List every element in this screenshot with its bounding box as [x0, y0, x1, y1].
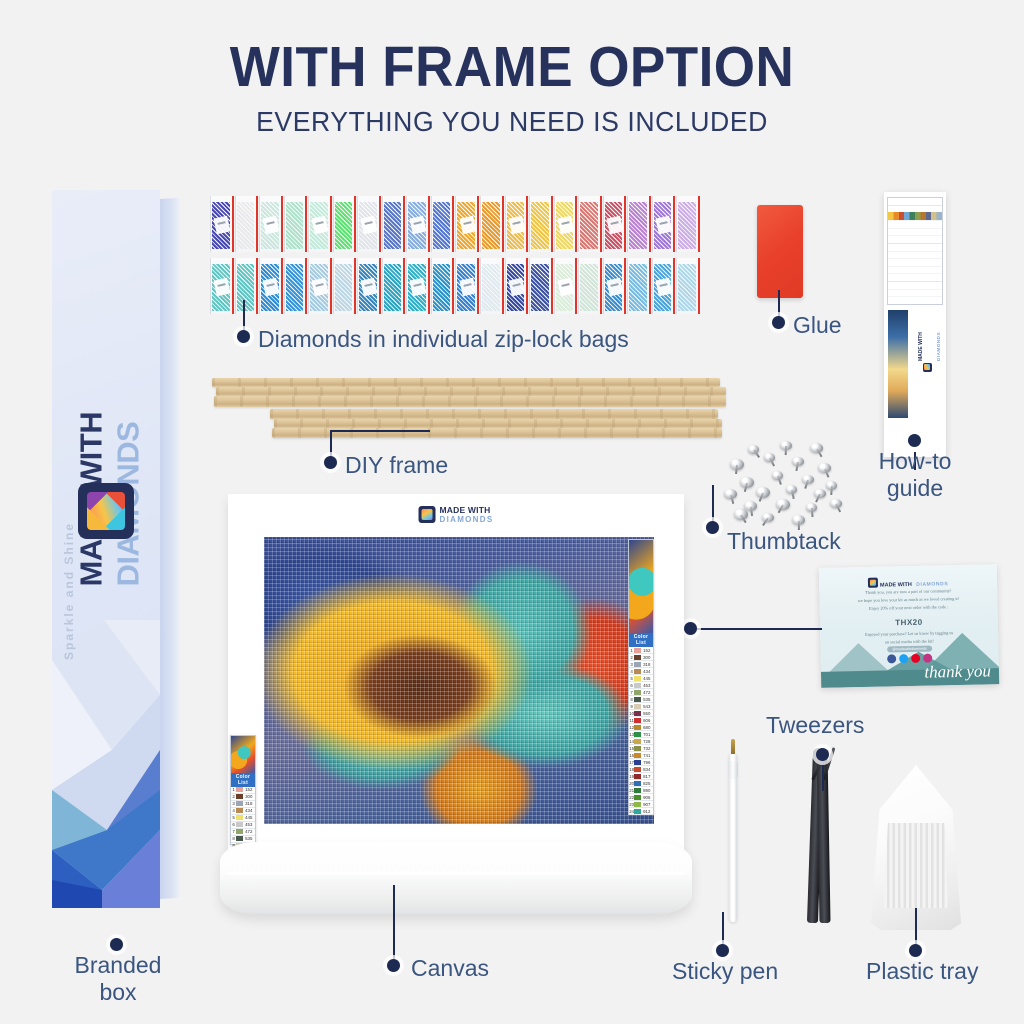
color-row-code: 680: [641, 725, 653, 730]
thumbtack: [814, 489, 826, 498]
ziplock-bag: [652, 196, 676, 252]
color-row-code: 606: [641, 718, 653, 723]
thumbtack: [786, 485, 797, 494]
ziplock-bag-row-top: [210, 196, 700, 252]
guide-logo-line2: DIAMONDS: [936, 332, 941, 361]
ziplock-bag: [382, 196, 406, 252]
ziplock-bag: [578, 258, 602, 314]
color-row-code: 741: [641, 753, 653, 758]
callout-dot-branded-box: [110, 938, 123, 951]
bag-diamond-fill: [335, 202, 353, 249]
twitter-icon: [899, 654, 908, 663]
color-list-row: 5445: [231, 815, 255, 822]
ziplock-bag: [333, 196, 357, 252]
color-list-row: 15732: [629, 745, 653, 752]
color-list-row: 7472: [629, 689, 653, 696]
color-row-code: 453: [243, 822, 255, 827]
ziplock-bag: [627, 258, 651, 314]
canvas-rolled-edge: [220, 842, 692, 914]
how-to-guide: MADE WITH DIAMONDS: [884, 192, 946, 457]
color-row-code: 701: [641, 732, 653, 737]
box-front-face: MADE WITH DIAMONDS Sparkle and Shine: [52, 190, 160, 908]
page-title: WITH FRAME OPTION: [36, 34, 988, 100]
color-row-code: 453: [641, 683, 653, 688]
bag-diamond-fill: [678, 264, 696, 311]
callout-dot-thumbtack: [706, 521, 719, 534]
leader-line-thankyou: [690, 628, 822, 630]
color-list-row: 22906: [629, 794, 653, 801]
ziplock-bag: [431, 258, 455, 314]
color-list-row: 3318: [231, 801, 255, 808]
bag-diamond-fill: [580, 264, 598, 311]
thumbtack: [756, 487, 770, 498]
thumbtack: [780, 441, 792, 450]
color-row-code: 825: [641, 781, 653, 786]
color-row-code: 152: [243, 787, 255, 792]
ziplock-bag: [455, 196, 479, 252]
color-list-row: 4434: [629, 668, 653, 675]
callout-dot-tweezers: [816, 748, 829, 761]
color-row-code: 445: [641, 676, 653, 681]
callout-dot-tray: [909, 944, 922, 957]
bag-diamond-fill: [335, 264, 353, 311]
callout-dot-thankyou: [684, 622, 697, 635]
color-row-code: 550: [641, 711, 653, 716]
bag-label: [557, 278, 574, 297]
thumbtack: [740, 477, 754, 488]
color-list-row: 8535: [629, 696, 653, 703]
color-list-row: 2300: [629, 654, 653, 661]
color-list-row: 24912: [629, 808, 653, 815]
guide-color-swatches: [888, 212, 942, 220]
bag-label: [557, 216, 574, 235]
ziplock-bag: [284, 258, 308, 314]
bag-diamond-fill: [433, 264, 451, 311]
color-list-row: 16741: [629, 752, 653, 759]
leader-line-thumbtack: [712, 485, 714, 521]
canvas-logo-line1: MADE WITH: [440, 506, 494, 515]
ziplock-bag: [676, 196, 700, 252]
callout-dot-howto: [908, 434, 921, 447]
bag-diamond-fill: [629, 202, 647, 249]
callout-label-glue: Glue: [793, 312, 842, 339]
ziplock-bag: [431, 196, 455, 252]
callout-label-canvas: Canvas: [411, 955, 489, 982]
color-row-code: 445: [243, 815, 255, 820]
color-row-code: 434: [641, 669, 653, 674]
bag-label: [606, 278, 623, 297]
box-side-face: [160, 198, 180, 899]
thumbtack: [792, 457, 804, 466]
guide-color-table: [887, 197, 943, 305]
leader-line-canvas: [393, 885, 395, 959]
canvas-drill-grid: [264, 537, 654, 824]
color-list-thumbnail-left: [231, 736, 255, 773]
ziplock-bag: [357, 196, 381, 252]
canvas-logo-icon: MADE WITH DIAMONDS: [419, 506, 494, 524]
color-row-code: 907: [641, 802, 653, 807]
color-list-row: 10550: [629, 710, 653, 717]
color-row-code: 300: [641, 655, 653, 660]
ziplock-bag: [554, 258, 578, 314]
color-list-rows-right: 1152230033184434544564537472853595431055…: [629, 647, 653, 815]
bag-diamond-fill: [433, 202, 451, 249]
leader-line-frame-h: [330, 430, 430, 432]
sticky-pen: [727, 737, 739, 922]
card-social-handle: @madewithdiamonds: [887, 646, 932, 653]
callout-label-bags: Diamonds in individual zip-lock bags: [258, 326, 629, 353]
bag-label: [655, 216, 672, 235]
thumbtack: [776, 499, 790, 510]
callout-label-frame: DIY frame: [345, 452, 448, 479]
callout-label-pen: Sticky pen: [672, 958, 778, 985]
color-row-code: 152: [641, 648, 653, 653]
ziplock-bag: [455, 258, 479, 314]
ziplock-bag: [333, 258, 357, 314]
callout-dot-pen: [716, 944, 729, 957]
canvas-logo-line2: DIAMONDS: [440, 516, 494, 524]
ziplock-bag: [357, 258, 381, 314]
ziplock-bag: [603, 258, 627, 314]
color-list-left: Color List 11522300331844345445645374728…: [230, 735, 256, 845]
ziplock-bag: [480, 196, 504, 252]
ziplock-bag: [480, 258, 504, 314]
thumbtack: [810, 443, 823, 453]
color-list-row: 20825: [629, 780, 653, 787]
color-row-code: 472: [641, 690, 653, 695]
leader-line-bags: [243, 300, 245, 330]
color-list-heading-left: Color List: [231, 773, 255, 787]
callout-dot-frame: [324, 456, 337, 469]
thumbtack: [806, 503, 817, 512]
ziplock-bag: [259, 258, 283, 314]
bag-diamond-fill: [286, 264, 304, 311]
bag-diamond-fill: [531, 264, 549, 311]
color-list-row: 7472: [231, 829, 255, 836]
bag-diamond-fill: [629, 264, 647, 311]
thumbtack: [792, 515, 805, 525]
ziplock-bag: [210, 258, 234, 314]
color-row-code: 906: [641, 795, 653, 800]
diamond-painting-canvas: MADE WITH DIAMONDS Color List 1152230033…: [228, 497, 684, 872]
bag-label: [459, 216, 476, 235]
canvas-sheet: MADE WITH DIAMONDS Color List 1152230033…: [228, 497, 684, 872]
color-row-code: 728: [641, 739, 653, 744]
bag-diamond-fill: [580, 202, 598, 249]
thumbtack: [802, 475, 814, 484]
ziplock-bag: [603, 196, 627, 252]
ziplock-bag: [406, 258, 430, 314]
thumbtack: [762, 513, 774, 522]
ziplock-bag: [284, 196, 308, 252]
color-list-row: 6453: [629, 682, 653, 689]
color-row-code: 890: [641, 788, 653, 793]
box-tagline: Sparkle and Shine: [62, 460, 76, 660]
thumbtack: [764, 453, 775, 462]
bag-diamond-fill: [384, 202, 402, 249]
color-list-row: 13701: [629, 731, 653, 738]
color-list-row: 17796: [629, 759, 653, 766]
color-list-row: 18834: [629, 766, 653, 773]
color-row-code: 817: [641, 774, 653, 779]
card-message: Thank you, you are now a part of our com…: [831, 586, 985, 614]
bag-label: [606, 216, 623, 235]
color-list-row: 6453: [231, 822, 255, 829]
callout-dot-glue: [772, 316, 785, 329]
bag-diamond-fill: [482, 264, 500, 311]
color-list-row: 5445: [629, 675, 653, 682]
color-list-right: Color List 11522300331844345445645374728…: [628, 539, 654, 815]
ziplock-bag: [578, 196, 602, 252]
guide-logo-icon: MADE WITH DIAMONDS: [910, 346, 944, 372]
ziplock-bag-row-bottom: [210, 258, 700, 314]
ziplock-bag: [235, 196, 259, 252]
color-list-row: 14728: [629, 738, 653, 745]
thumbtack: [734, 509, 748, 520]
bag-diamond-fill: [678, 202, 696, 249]
thumbtack: [826, 481, 837, 490]
pinterest-icon: [911, 654, 920, 663]
color-list-row: 21890: [629, 787, 653, 794]
diy-frame-bars: [212, 372, 742, 450]
color-list-row: 3318: [629, 661, 653, 668]
color-row-code: 535: [641, 697, 653, 702]
color-list-row: 11606: [629, 717, 653, 724]
color-list-rows-left: 115223003318443454456453747285359543: [231, 787, 255, 850]
thumbtack: [772, 471, 783, 480]
ziplock-bag: [308, 196, 332, 252]
leader-line-pen: [722, 912, 724, 944]
callout-label-tweezers: Tweezers: [766, 712, 864, 739]
color-list-row: 2300: [231, 794, 255, 801]
page-subtitle: EVERYTHING YOU NEED IS INCLUDED: [26, 106, 999, 138]
instagram-icon: [923, 654, 932, 663]
callout-dot-bags: [237, 330, 250, 343]
callout-dot-canvas: [387, 959, 400, 972]
color-row-code: 543: [641, 704, 653, 709]
guide-logo-line1: MADE WITH: [918, 332, 924, 361]
color-list-heading-right: Color List: [629, 633, 653, 647]
leader-line-tweezers: [822, 757, 824, 791]
plastic-tray: [868, 765, 964, 930]
bag-label: [459, 278, 476, 297]
color-row-code: 912: [641, 809, 653, 814]
ziplock-bag: [308, 258, 332, 314]
bag-label: [508, 278, 525, 297]
bag-diamond-fill: [237, 264, 255, 311]
color-list-row: 23907: [629, 801, 653, 808]
thumbtack: [830, 499, 842, 508]
ziplock-bag: [627, 196, 651, 252]
facebook-icon: [887, 654, 896, 663]
ziplock-bag: [505, 258, 529, 314]
color-list-row: 19817: [629, 773, 653, 780]
callout-label-tray: Plastic tray: [866, 958, 978, 985]
thumbtack: [748, 445, 759, 454]
ziplock-bag: [406, 196, 430, 252]
bag-label: [508, 216, 525, 235]
ziplock-bag: [554, 196, 578, 252]
ziplock-bag: [652, 258, 676, 314]
color-row-code: 472: [243, 829, 255, 834]
tweezers: [800, 748, 840, 923]
ziplock-bag: [235, 258, 259, 314]
bag-diamond-fill: [237, 202, 255, 249]
bag-label: [655, 278, 672, 297]
leader-line-tray: [915, 908, 917, 944]
pen-grip: [728, 761, 738, 779]
tray-ridges: [884, 823, 948, 908]
callout-label-branded-box: Branded box: [58, 952, 178, 1005]
thumbtack-pile: [718, 437, 858, 527]
ziplock-bag: [505, 196, 529, 252]
diamond-logo-icon: [78, 483, 134, 539]
bag-diamond-fill: [531, 202, 549, 249]
bag-diamond-fill: [384, 264, 402, 311]
leader-line-frame-v: [330, 430, 332, 458]
card-promo-code: THX20: [820, 616, 998, 629]
ziplock-bag: [529, 258, 553, 314]
thumbtack: [818, 463, 831, 473]
bag-diamond-fill: [482, 202, 500, 249]
callout-label-howto: How-to guide: [860, 448, 970, 501]
bag-diamond-fill: [286, 202, 304, 249]
leader-line-glue: [778, 290, 780, 318]
ziplock-bag: [382, 258, 406, 314]
branded-box: MADE WITH DIAMONDS Sparkle and Shine: [52, 190, 180, 908]
color-row-code: 834: [641, 767, 653, 772]
ziplock-bag: [259, 196, 283, 252]
thumbtack: [724, 489, 737, 499]
infographic-canvas: WITH FRAME OPTION EVERYTHING YOU NEED IS…: [0, 0, 1024, 1024]
color-list-row: 1152: [629, 647, 653, 654]
thank-you-card: MADE WITH DIAMONDS Thank you, you are no…: [819, 564, 999, 688]
color-row-code: 535: [243, 836, 255, 841]
color-row-code: 434: [243, 808, 255, 813]
color-row-code: 318: [243, 801, 255, 806]
ziplock-bag: [529, 196, 553, 252]
callout-label-thumbtack: Thumbtack: [727, 528, 841, 555]
color-row-code: 732: [641, 746, 653, 751]
guide-cover-photo: [888, 310, 908, 418]
color-row-code: 300: [243, 794, 255, 799]
pen-tip: [731, 739, 735, 754]
card-thank-you-script: thank you: [924, 664, 991, 680]
color-row-code: 796: [641, 760, 653, 765]
color-list-row: 1152: [231, 787, 255, 794]
thumbtack: [730, 459, 744, 470]
ziplock-bag: [210, 196, 234, 252]
canvas-artwork-mosaic: [264, 537, 654, 824]
glue-bottle: [757, 205, 803, 298]
color-row-code: 318: [641, 662, 653, 667]
ziplock-bag: [676, 258, 700, 314]
color-list-row: 9543: [629, 703, 653, 710]
color-list-thumbnail-right: [629, 540, 653, 633]
color-list-row: 12680: [629, 724, 653, 731]
color-list-row: 4434: [231, 808, 255, 815]
